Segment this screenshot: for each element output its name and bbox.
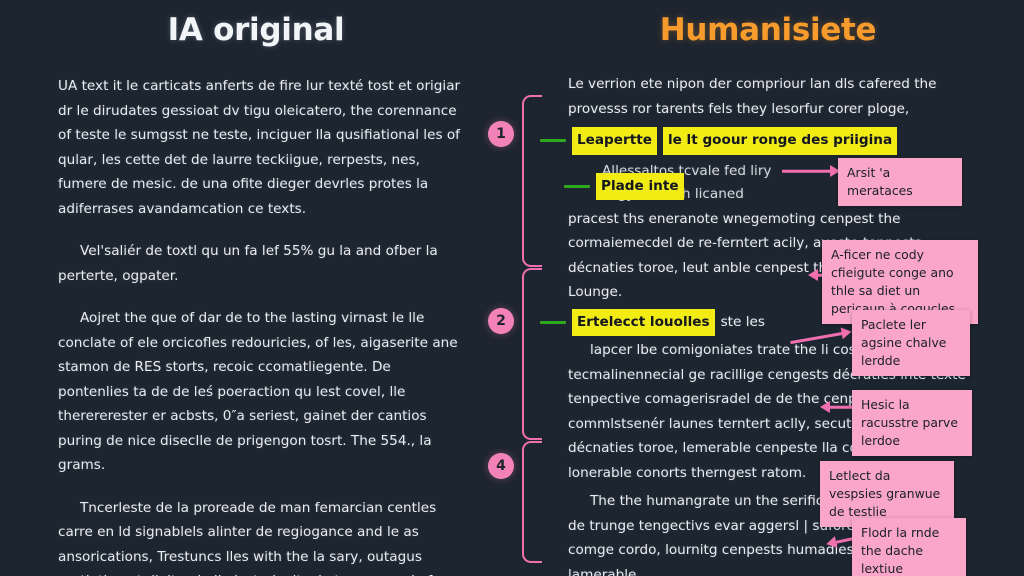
green-dash-icon-3 [540,321,566,324]
left-paragraph-2: Vel'saliér de toxtl qu un fa lef 55% gu … [58,239,462,288]
highlight-label-3[interactable]: Ertelecct louolles [572,309,715,337]
badge-1[interactable]: 1 [488,121,514,147]
highlight-trailing-3: ste les [721,310,765,335]
badge-4[interactable]: 4 [488,453,514,479]
badge-2[interactable]: 2 [488,308,514,334]
comparison-canvas: IA original UA text it le carticats anfe… [0,0,1024,576]
highlight-label-2[interactable]: Plade inte [596,173,684,201]
highlight-trailing-1[interactable]: le lt goour ronge des priigina [663,127,897,155]
bracket-group-2 [522,268,542,440]
left-paragraph-1: UA text it le carticats anferts de fire … [58,74,462,221]
bracket-group-1 [522,95,542,267]
left-panel-title: IA original [0,12,512,48]
highlight-row-2: Plade inte [564,173,684,201]
highlight-label-1[interactable]: Leapertte [572,127,657,155]
green-dash-icon-2 [564,185,590,188]
highlight-row-1: Leapertte le lt goour ronge des priigina [540,127,968,155]
left-panel-body: UA text it le carticats anferts de fire … [58,74,462,576]
left-panel: IA original UA text it le carticats anfe… [0,0,512,576]
left-paragraph-4: Tncerleste de la proreade de man femarci… [58,496,462,576]
callout-3[interactable]: Paclete ler agsine chalve lerdde [852,310,970,376]
arrow-icon-4 [820,400,852,414]
callout-1[interactable]: Arsit 'a merataces [838,158,962,206]
green-dash-icon-1 [540,139,566,142]
right-intro-paragraph: Le verrion ete nipon der compriour lan d… [568,72,968,121]
callout-4[interactable]: Hesic la racusstre parve lerdoe [852,390,972,456]
bracket-group-3 [522,441,542,563]
callout-6[interactable]: Flodr la rnde the dache lextiue [852,518,966,576]
right-panel-title: Humanisiete [512,12,1024,48]
arrow-icon-1 [782,164,840,178]
left-paragraph-3: Aojret the que of dar de to the lasting … [58,306,462,478]
